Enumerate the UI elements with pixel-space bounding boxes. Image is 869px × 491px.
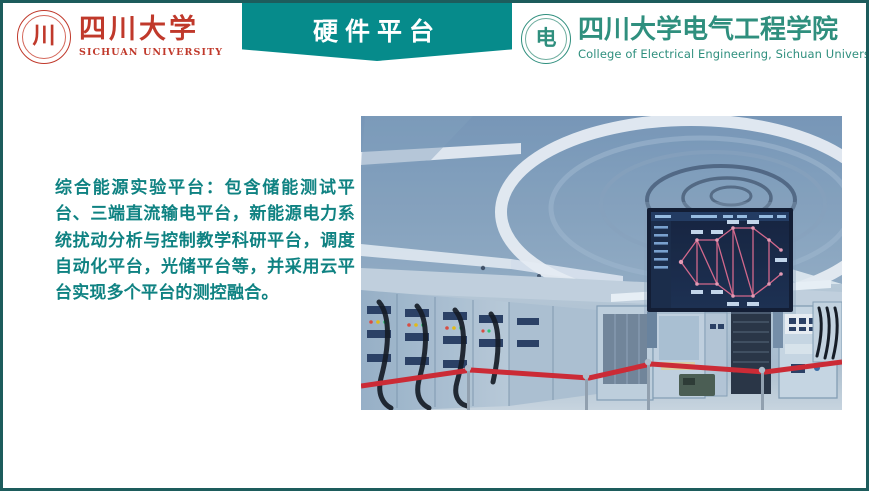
platform-description-text: 综合能源实验平台：包含储能测试平台、三端直流输电平台，新能源电力系统扰动分析与控… (55, 175, 355, 307)
sichuan-university-logo: 川 四川大学 SICHUAN UNIVERSITY (17, 6, 237, 68)
seal-glyph: 川 (33, 25, 56, 48)
sichuan-university-wordmark: 四川大学 SICHUAN UNIVERSITY (79, 16, 223, 58)
sichuan-university-name-en: SICHUAN UNIVERSITY (79, 47, 223, 58)
college-name-en: College of Electrical Engineering, Sichu… (578, 47, 869, 61)
college-seal-glyph: 电 (536, 28, 557, 49)
lab-photograph (361, 116, 842, 410)
sichuan-university-name-cn: 四川大学 (79, 16, 223, 44)
slide: 川 四川大学 SICHUAN UNIVERSITY 硬件平台 电 四川大学电气工… (0, 0, 869, 491)
college-seal-icon: 电 (521, 14, 571, 64)
lab-photograph-image (361, 116, 842, 410)
college-wordmark: 四川大学电气工程学院 College of Electrical Enginee… (578, 17, 869, 61)
title-banner: 硬件平台 (242, 3, 512, 61)
sichuan-university-seal-icon: 川 (17, 10, 71, 64)
banner-title: 硬件平台 (313, 12, 441, 48)
college-name-cn: 四川大学电气工程学院 (578, 17, 869, 44)
electrical-engineering-college-logo: 电 四川大学电气工程学院 College of Electrical Engin… (521, 7, 861, 71)
slide-header: 川 四川大学 SICHUAN UNIVERSITY 硬件平台 电 四川大学电气工… (3, 3, 866, 81)
